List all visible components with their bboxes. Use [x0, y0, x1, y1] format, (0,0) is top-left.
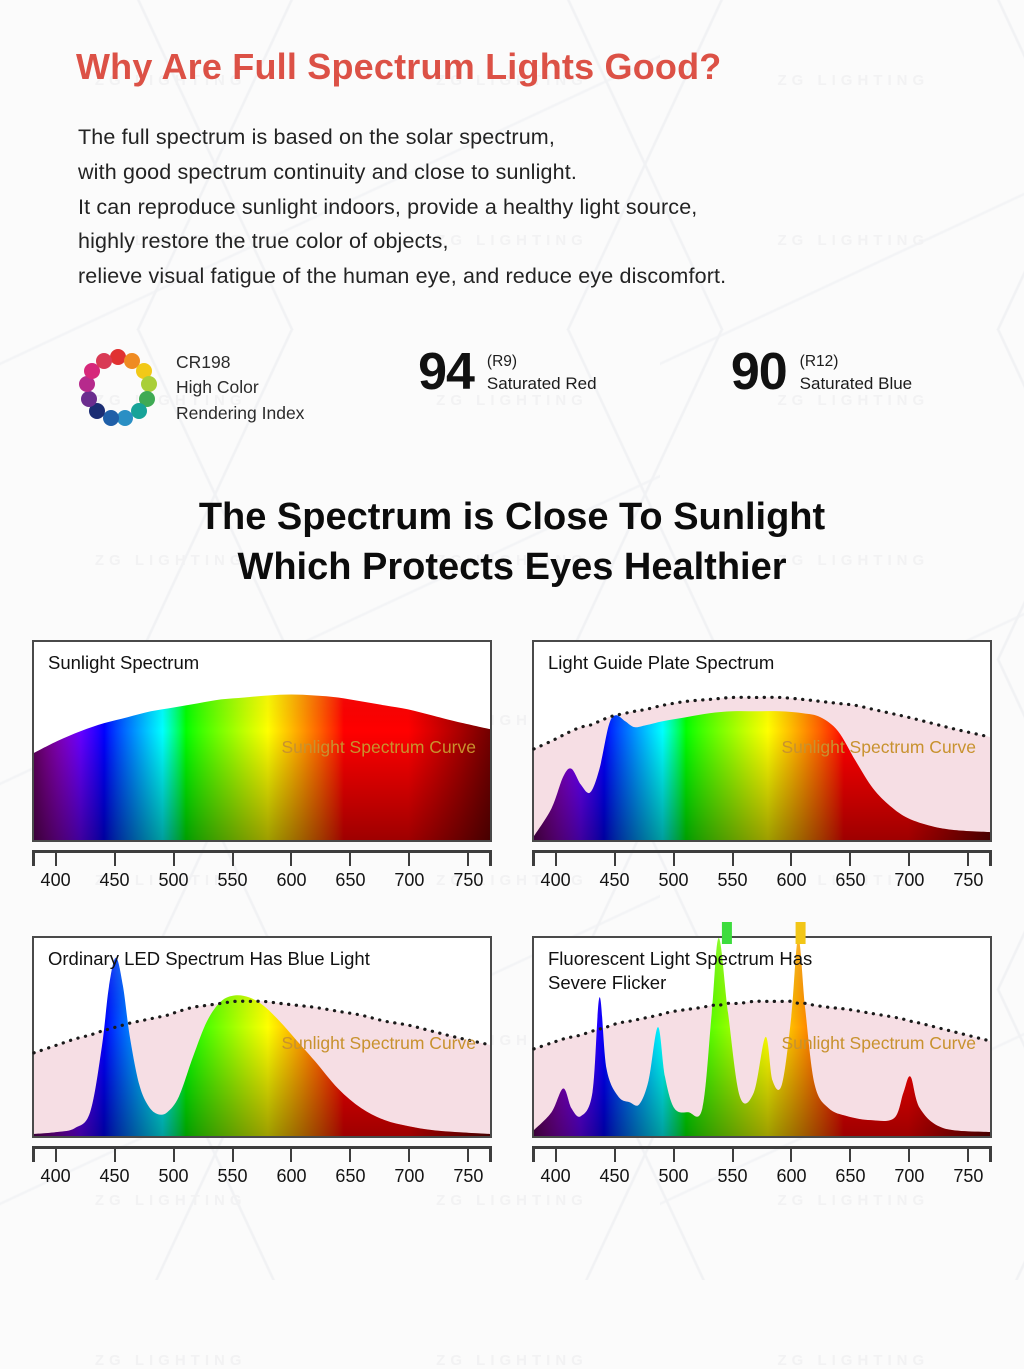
x-axis-ordinary-led: 400450500550600650700750	[32, 1146, 492, 1192]
axis-tick-label: 450	[100, 1166, 130, 1187]
axis-tick	[232, 1149, 234, 1162]
axis-tick-label: 650	[835, 870, 865, 891]
intro-line-3: It can reproduce sunlight indoors, provi…	[78, 190, 1024, 225]
metrics-row: CR198 High Color Rendering Index 94 (R9)…	[0, 294, 1024, 430]
axis-tick-label: 700	[894, 870, 924, 891]
axis-tick	[555, 853, 557, 866]
section-heading: The Spectrum is Close To Sunlight Which …	[0, 430, 1024, 592]
axis-tick	[908, 1149, 910, 1162]
axis-tick	[790, 853, 792, 866]
chart-title-sunlight: Sunlight Spectrum	[48, 651, 199, 675]
axis-tick-label: 400	[41, 1166, 71, 1187]
axis-tick-label: 550	[717, 870, 747, 891]
axis-tick-label: 650	[335, 870, 365, 891]
chart-plot-fluorescent: Fluorescent Light Spectrum Has Severe Fl…	[532, 936, 992, 1138]
chart-title-light-guide-plate: Light Guide Plate Spectrum	[548, 651, 774, 675]
intro-line-2: with good spectrum continuity and close …	[78, 155, 1024, 190]
axis-tick-label: 500	[159, 870, 189, 891]
watermark-text: ZG LIGHTING	[777, 1192, 929, 1209]
color-wheel-dot	[96, 353, 112, 369]
axis-tick-label: 650	[335, 1166, 365, 1187]
intro-line-5: relieve visual fatigue of the human eye,…	[78, 259, 1024, 294]
axis-tick	[408, 1149, 410, 1162]
metric-cri: CR198 High Color Rendering Index	[76, 346, 418, 430]
section-heading-line-1: The Spectrum is Close To Sunlight	[0, 492, 1024, 542]
axis-tick-label: 700	[394, 1166, 424, 1187]
chart-fluorescent: Fluorescent Light Spectrum Has Severe Fl…	[532, 936, 992, 1192]
axis-tick-label: 500	[659, 1166, 689, 1187]
color-wheel-dot	[81, 391, 97, 407]
chart-ordinary-led: Ordinary LED Spectrum Has Blue LightSunl…	[32, 936, 492, 1192]
axis-tick-label: 750	[453, 870, 483, 891]
r9-label: Saturated Red	[487, 373, 597, 395]
page-root: Why Are Full Spectrum Lights Good? The f…	[0, 0, 1024, 1192]
axis-tick	[967, 853, 969, 866]
axis-tick	[732, 853, 734, 866]
axis-tick	[173, 853, 175, 866]
axis-end-cap-right	[989, 1149, 992, 1162]
axis-tick-label: 600	[276, 870, 306, 891]
axis-end-cap-left	[532, 1149, 535, 1162]
x-axis-fluorescent: 400450500550600650700750	[532, 1146, 992, 1192]
color-wheel-dot	[141, 376, 157, 392]
r9-code: (R9)	[487, 352, 597, 372]
r9-caption: (R9) Saturated Red	[487, 349, 597, 395]
intro-line-1: The full spectrum is based on the solar …	[78, 120, 1024, 155]
axis-tick-label: 750	[453, 1166, 483, 1187]
x-axis-light-guide-plate: 400450500550600650700750	[532, 850, 992, 896]
watermark-text: ZG LIGHTING	[95, 1352, 247, 1369]
axis-tick	[114, 853, 116, 866]
axis-end-cap-right	[489, 1149, 492, 1162]
axis-tick-label: 600	[276, 1166, 306, 1187]
chart-light-guide-plate: Light Guide Plate SpectrumSunlight Spect…	[532, 640, 992, 896]
spike-orange-spike	[796, 922, 806, 944]
r12-label: Saturated Blue	[800, 373, 912, 395]
axis-tick-label: 400	[41, 870, 71, 891]
cri-label-group: CR198 High Color Rendering Index	[176, 350, 304, 426]
r12-code: (R12)	[800, 352, 912, 372]
cri-line-1: High Color	[176, 375, 304, 400]
axis-tick-label: 750	[953, 1166, 983, 1187]
axis-tick-label: 450	[600, 870, 630, 891]
color-wheel-dot	[103, 410, 119, 426]
axis-tick-label: 500	[659, 870, 689, 891]
axis-tick	[849, 853, 851, 866]
axis-tick	[173, 1149, 175, 1162]
color-wheel-icon	[76, 346, 160, 430]
axis-tick	[232, 853, 234, 866]
axis-tick	[673, 1149, 675, 1162]
axis-tick-label: 550	[717, 1166, 747, 1187]
chart-title-fluorescent: Fluorescent Light Spectrum Has Severe Fl…	[548, 947, 812, 994]
chart-plot-ordinary-led: Ordinary LED Spectrum Has Blue LightSunl…	[32, 936, 492, 1138]
axis-tick-label: 400	[541, 870, 571, 891]
axis-tick-label: 500	[159, 1166, 189, 1187]
axis-end-cap-left	[32, 853, 35, 866]
curve-label-ordinary-led: Sunlight Spectrum Curve	[281, 1033, 476, 1054]
axis-tick	[349, 853, 351, 866]
metric-r9: 94 (R9) Saturated Red	[418, 346, 731, 398]
curve-label-light-guide-plate: Sunlight Spectrum Curve	[781, 737, 976, 758]
axis-tick	[467, 1149, 469, 1162]
axis-tick-label: 450	[100, 870, 130, 891]
spike-green-spike	[722, 922, 732, 944]
axis-tick	[55, 853, 57, 866]
axis-tick-label: 600	[776, 870, 806, 891]
intro-paragraph: The full spectrum is based on the solar …	[0, 88, 1024, 294]
axis-tick	[290, 1149, 292, 1162]
cri-code: CR198	[176, 350, 304, 375]
cri-line-2: Rendering Index	[176, 401, 304, 426]
chart-title-ordinary-led: Ordinary LED Spectrum Has Blue Light	[48, 947, 370, 971]
axis-tick	[849, 1149, 851, 1162]
axis-tick	[908, 853, 910, 866]
axis-tick-label: 450	[600, 1166, 630, 1187]
axis-tick	[790, 1149, 792, 1162]
axis-tick	[467, 853, 469, 866]
r12-value: 90	[731, 346, 787, 398]
curve-label-sunlight: Sunlight Spectrum Curve	[281, 737, 476, 758]
curve-label-fluorescent: Sunlight Spectrum Curve	[781, 1033, 976, 1054]
r9-value: 94	[418, 346, 474, 398]
axis-tick	[55, 1149, 57, 1162]
axis-tick	[555, 1149, 557, 1162]
page-title: Why Are Full Spectrum Lights Good?	[0, 0, 1024, 88]
axis-tick	[614, 1149, 616, 1162]
color-wheel-dot	[79, 376, 95, 392]
watermark-text: ZG LIGHTING	[95, 1192, 247, 1209]
axis-tick-label: 700	[394, 870, 424, 891]
axis-tick	[967, 1149, 969, 1162]
axis-tick-label: 400	[541, 1166, 571, 1187]
axis-tick	[290, 853, 292, 866]
x-axis-sunlight: 400450500550600650700750	[32, 850, 492, 896]
axis-tick-label: 700	[894, 1166, 924, 1187]
axis-end-cap-left	[32, 1149, 35, 1162]
metric-r12: 90 (R12) Saturated Blue	[731, 346, 1024, 398]
axis-end-cap-left	[532, 853, 535, 866]
axis-tick-label: 600	[776, 1166, 806, 1187]
axis-tick	[614, 853, 616, 866]
color-wheel-dot	[117, 410, 133, 426]
watermark-text: ZG LIGHTING	[436, 1352, 588, 1369]
axis-tick	[349, 1149, 351, 1162]
axis-tick-label: 750	[953, 870, 983, 891]
axis-tick	[673, 853, 675, 866]
watermark-text: ZG LIGHTING	[777, 1352, 929, 1369]
axis-end-cap-right	[489, 853, 492, 866]
chart-plot-sunlight: Sunlight SpectrumSunlight Spectrum Curve	[32, 640, 492, 842]
axis-tick	[732, 1149, 734, 1162]
axis-tick-label: 650	[835, 1166, 865, 1187]
chart-plot-light-guide-plate: Light Guide Plate SpectrumSunlight Spect…	[532, 640, 992, 842]
intro-line-4: highly restore the true color of objects…	[78, 224, 1024, 259]
axis-tick	[114, 1149, 116, 1162]
axis-tick	[408, 853, 410, 866]
axis-end-cap-right	[989, 853, 992, 866]
watermark-text: ZG LIGHTING	[436, 1192, 588, 1209]
section-heading-line-2: Which Protects Eyes Healthier	[0, 542, 1024, 592]
chart-sunlight: Sunlight SpectrumSunlight Spectrum Curve…	[32, 640, 492, 896]
axis-tick-label: 550	[217, 870, 247, 891]
axis-tick-label: 550	[217, 1166, 247, 1187]
r12-caption: (R12) Saturated Blue	[800, 349, 912, 395]
charts-grid: Sunlight SpectrumSunlight Spectrum Curve…	[0, 592, 1024, 1192]
